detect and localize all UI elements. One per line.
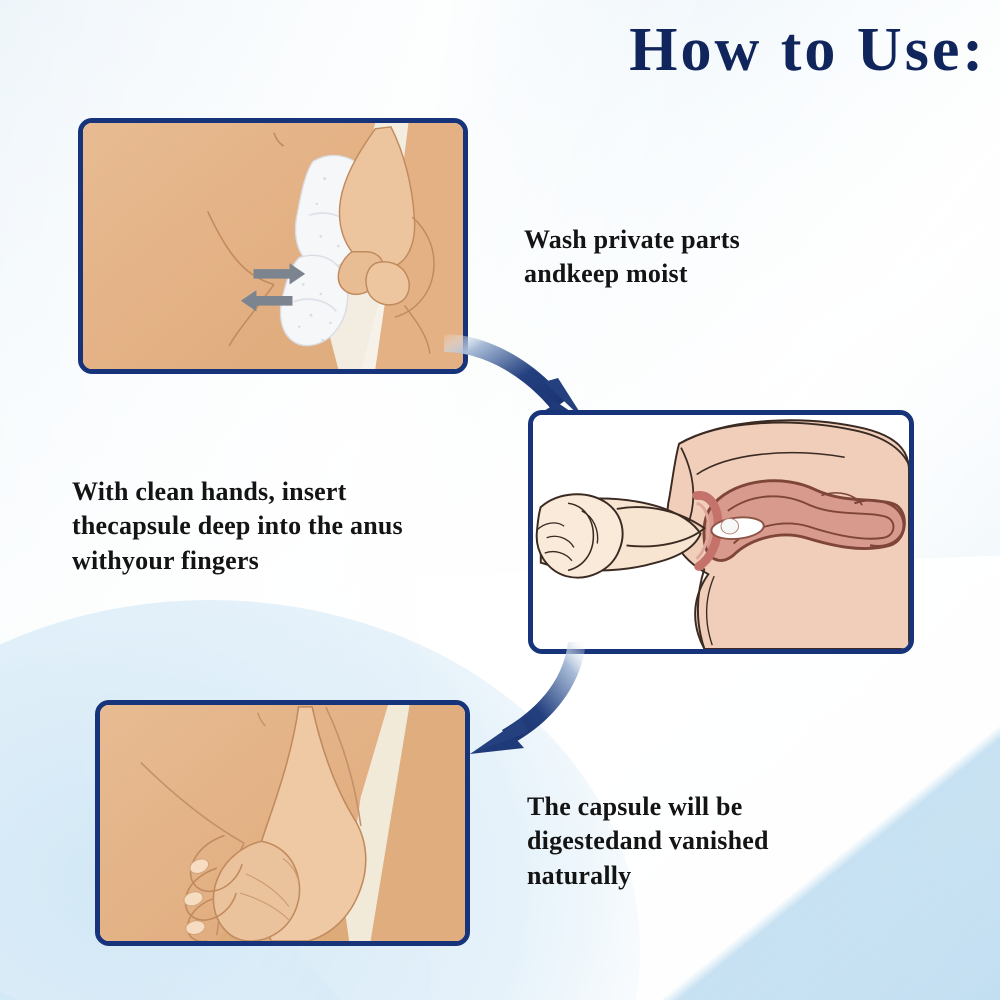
step-2-caption-line-2: thecapsule deep into the anus	[72, 509, 542, 543]
step-2-image-panel	[528, 410, 914, 654]
page-title: How to Use:	[629, 16, 986, 84]
step-2-illustration	[533, 415, 909, 649]
step-2-caption-line-1: With clean hands, insert	[72, 475, 542, 509]
step-1-illustration	[83, 123, 463, 369]
step-3-caption-line-2: digestedand vanished	[527, 824, 897, 858]
how-to-use-poster: How to Use:	[0, 0, 1000, 1000]
step-3-caption-line-3: naturally	[527, 859, 897, 893]
step-3-caption: The capsule will be digestedand vanished…	[527, 790, 897, 893]
step-1-caption: Wash private parts andkeep moist	[524, 223, 884, 292]
step-1-caption-line-1: Wash private parts	[524, 223, 884, 257]
step-2-caption-line-3: withyour fingers	[72, 544, 542, 578]
step-3-caption-line-1: The capsule will be	[527, 790, 897, 824]
step-2-caption: With clean hands, insert thecapsule deep…	[72, 475, 542, 578]
step-1-caption-line-2: andkeep moist	[524, 257, 884, 291]
step-1-image-panel	[78, 118, 468, 374]
step-3-image-panel	[95, 700, 470, 946]
step-3-illustration	[100, 705, 465, 941]
